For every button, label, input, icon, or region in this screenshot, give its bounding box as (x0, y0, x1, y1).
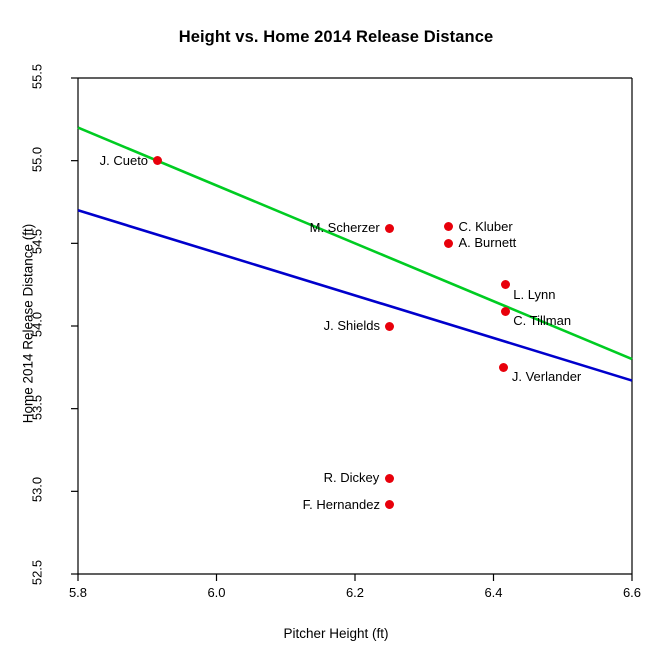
x-axis-tick-label: 6.6 (602, 585, 662, 600)
data-point-label: A. Burnett (458, 235, 516, 250)
data-point-label: C. Tillman (513, 313, 571, 328)
x-axis-tick-label: 5.8 (48, 585, 108, 600)
x-axis-tick-label: 6.2 (325, 585, 385, 600)
data-point-label: M. Scherzer (310, 220, 380, 235)
data-point[interactable] (385, 474, 394, 483)
data-point[interactable] (385, 224, 394, 233)
plot-canvas (0, 0, 672, 671)
y-axis-title: Home 2014 Release Distance (ft) (21, 159, 36, 489)
data-point[interactable] (501, 307, 510, 316)
scatter-plot-figure: Height vs. Home 2014 Release Distance 52… (0, 0, 672, 671)
data-point-label: R. Dickey (324, 470, 380, 485)
x-axis-tick-label: 6.4 (464, 585, 524, 600)
data-point-label: F. Hernandez (303, 497, 380, 512)
data-point[interactable] (444, 239, 453, 248)
x-axis-tick-label: 6.0 (187, 585, 247, 600)
data-point[interactable] (501, 280, 510, 289)
y-axis-tick-label: 55.5 (30, 51, 45, 103)
x-axis-title: Pitcher Height (ft) (0, 626, 672, 641)
data-point-label: C. Kluber (458, 219, 512, 234)
data-point-label: J. Shields (324, 318, 380, 333)
data-point-label: J. Verlander (512, 369, 581, 384)
data-point-label: L. Lynn (513, 287, 555, 302)
y-axis-tick-label: 52.5 (30, 547, 45, 599)
data-point[interactable] (385, 322, 394, 331)
data-point-label: J. Cueto (100, 153, 148, 168)
trend-lines-group (78, 128, 632, 381)
